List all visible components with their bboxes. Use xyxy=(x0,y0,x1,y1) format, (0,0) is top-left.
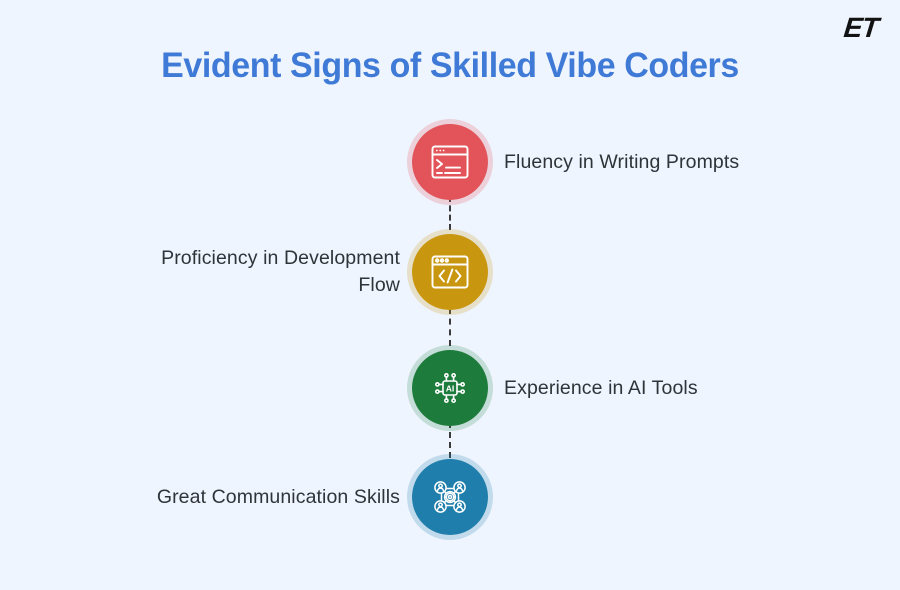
people-network-icon xyxy=(429,476,471,518)
step-4-label: Great Communication Skills xyxy=(157,484,400,511)
timeline: Fluency in Writing Prompts xyxy=(0,116,900,576)
step-1-label-wrap: Fluency in Writing Prompts xyxy=(504,124,754,200)
step-3-circle[interactable]: AI xyxy=(412,350,488,426)
page-title: Evident Signs of Skilled Vibe Coders xyxy=(14,46,887,86)
step-4-label-wrap: Great Communication Skills xyxy=(150,459,400,535)
brand-logo: ET xyxy=(843,14,880,42)
ai-chip-icon: AI xyxy=(430,368,470,408)
step-4-circle[interactable] xyxy=(412,459,488,535)
timeline-step-4[interactable]: Great Communication Skills xyxy=(0,459,900,533)
step-1-circle[interactable] xyxy=(412,124,488,200)
infographic-canvas: ET Evident Signs of Skilled Vibe Coders xyxy=(0,0,900,590)
svg-text:AI: AI xyxy=(446,383,455,393)
timeline-step-3[interactable]: AI xyxy=(0,350,900,424)
step-2-label-wrap: Proficiency in Development Flow xyxy=(150,234,400,310)
timeline-step-1[interactable]: Fluency in Writing Prompts xyxy=(0,124,900,198)
timeline-step-2[interactable]: Proficiency in Development Flow xyxy=(0,234,900,308)
step-1-label: Fluency in Writing Prompts xyxy=(504,149,739,176)
code-window-icon xyxy=(430,254,470,290)
terminal-prompt-icon xyxy=(430,144,470,180)
step-3-label: Experience in AI Tools xyxy=(504,375,698,402)
step-2-circle[interactable] xyxy=(412,234,488,310)
step-3-label-wrap: Experience in AI Tools xyxy=(504,350,754,426)
step-2-label: Proficiency in Development Flow xyxy=(150,245,400,299)
